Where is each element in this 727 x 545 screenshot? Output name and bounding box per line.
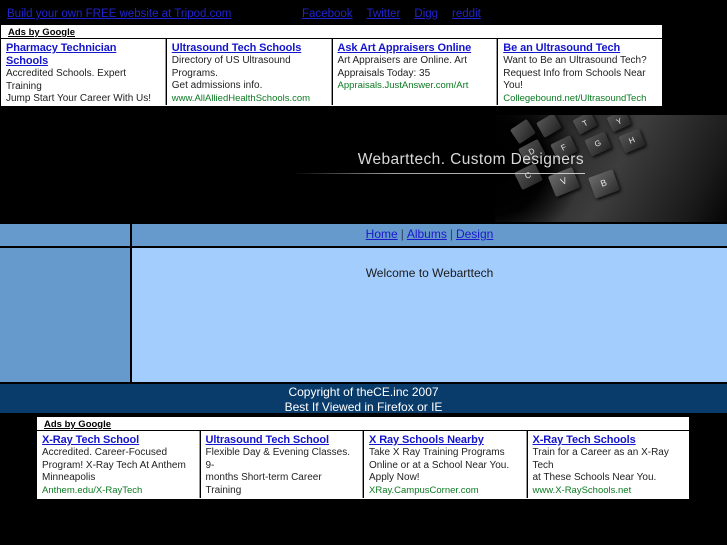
ad-item[interactable]: X-Ray Tech Schools Train for a Career as… bbox=[527, 431, 690, 498]
ad-description-line: Appraisals Today: 35 bbox=[338, 68, 493, 81]
ad-description-line: months Short-term Career Training bbox=[206, 472, 359, 497]
sidebar-panel bbox=[0, 248, 132, 382]
ads-top-row: Pharmacy Technician Schools Accredited S… bbox=[1, 39, 662, 105]
ad-display-url[interactable]: Appraisals.JustAnswer.com/Art bbox=[338, 80, 493, 93]
ad-description-line: Minneapolis bbox=[42, 472, 195, 485]
ad-title-link[interactable]: Ask Art Appraisers Online bbox=[338, 42, 493, 55]
ad-display-url[interactable]: goto.Everest.edu/Ultrasound bbox=[206, 497, 359, 498]
ad-item[interactable]: Ultrasound Tech Schools Directory of US … bbox=[166, 39, 332, 105]
ad-description-line: Want to Be an Ultrasound Tech? bbox=[503, 55, 658, 68]
nav-item-albums[interactable]: Albums bbox=[407, 227, 447, 241]
google-ads-top: Ads by Google Pharmacy Technician School… bbox=[0, 24, 663, 107]
nav-item-home[interactable]: Home bbox=[366, 227, 398, 241]
ad-description-line: Directory of US Ultrasound Programs. bbox=[172, 55, 327, 80]
site-header-banner: D F G H T Y C V B Webarttech. Custom Des… bbox=[0, 115, 727, 222]
keyboard-key-v: V bbox=[548, 167, 580, 197]
ad-title-link[interactable]: X-Ray Tech Schools bbox=[533, 434, 686, 447]
site-body: Home|Albums|Design Welcome to Webarttech… bbox=[0, 222, 727, 413]
welcome-message: Welcome to Webarttech bbox=[132, 266, 727, 280]
ad-title-link[interactable]: Pharmacy Technician Schools bbox=[6, 42, 161, 68]
site-footer: Copyright of theCE.inc 2007 Best If View… bbox=[0, 382, 727, 413]
ad-item[interactable]: X Ray Schools Nearby Take X Ray Training… bbox=[363, 431, 527, 498]
banner-divider bbox=[292, 173, 585, 174]
nav-separator: | bbox=[398, 227, 407, 241]
ad-item[interactable]: X-Ray Tech School Accredited. Career-Foc… bbox=[37, 431, 200, 498]
content-row: Welcome to Webarttech bbox=[0, 248, 727, 382]
ad-item[interactable]: Be an Ultrasound Tech Want to Be an Ultr… bbox=[497, 39, 662, 105]
tripod-build-link[interactable]: Build your own FREE website at Tripod.co… bbox=[7, 8, 231, 20]
ad-description-line: Program! X-Ray Tech At Anthem bbox=[42, 460, 195, 473]
ad-description-line: Online or at a School Near You. bbox=[369, 460, 522, 473]
ad-title-link[interactable]: Ultrasound Tech School bbox=[206, 434, 359, 447]
ad-title-link[interactable]: Be an Ultrasound Tech bbox=[503, 42, 658, 55]
ad-item[interactable]: Pharmacy Technician Schools Accredited S… bbox=[1, 39, 166, 105]
ad-description-line: Art Appraisers are Online. Art bbox=[338, 55, 493, 68]
banner-title: Webarttech. Custom Designers bbox=[352, 151, 584, 169]
ad-display-url[interactable]: Collegebound.net/UltrasoundTech bbox=[503, 93, 658, 106]
ad-item[interactable]: Ultrasound Tech School Flexible Day & Ev… bbox=[200, 431, 364, 498]
ad-description-line: Accredited. Career-Focused bbox=[42, 447, 195, 460]
ad-description-line: Request Info from Schools Near You! bbox=[503, 68, 658, 93]
nav-item-design[interactable]: Design bbox=[456, 227, 493, 241]
main-content-panel: Welcome to Webarttech bbox=[132, 248, 727, 382]
ad-description-line: Accredited Schools. Expert Training bbox=[6, 68, 161, 93]
footer-browser-note: Best If Viewed in Firefox or IE bbox=[0, 400, 727, 415]
social-links: FacebookTwitterDiggreddit bbox=[302, 8, 495, 20]
ads-bottom-row: X-Ray Tech School Accredited. Career-Foc… bbox=[37, 431, 689, 498]
keyboard-key-b: B bbox=[588, 169, 620, 199]
ad-description-line: Get admissions info. bbox=[172, 80, 327, 93]
navigation-bar: Home|Albums|Design bbox=[0, 222, 727, 248]
google-ads-bottom: Ads by Google X-Ray Tech School Accredit… bbox=[36, 416, 690, 500]
ads-by-google-label-bottom: Ads by Google bbox=[37, 417, 689, 431]
ad-description-line: Take X Ray Training Programs bbox=[369, 447, 522, 460]
social-link-reddit[interactable]: reddit bbox=[452, 8, 481, 20]
ad-display-url[interactable]: XRay.CampusCorner.com bbox=[369, 485, 522, 498]
nav-left-spacer bbox=[0, 224, 132, 246]
social-link-facebook[interactable]: Facebook bbox=[302, 8, 353, 20]
ad-title-link[interactable]: X Ray Schools Nearby bbox=[369, 434, 522, 447]
keyboard-key-y: Y bbox=[607, 115, 632, 132]
ad-description-line: Flexible Day & Evening Classes. 9- bbox=[206, 447, 359, 472]
keyboard-key bbox=[536, 115, 562, 138]
ad-display-url[interactable]: www.AllAlliedHealthSchools.com bbox=[172, 93, 327, 106]
ad-display-url[interactable]: www.X-RaySchools.net bbox=[533, 485, 686, 498]
ad-description-line: at These Schools Near You. bbox=[533, 472, 686, 485]
social-link-digg[interactable]: Digg bbox=[414, 8, 438, 20]
tripod-top-bar: Build your own FREE website at Tripod.co… bbox=[0, 0, 727, 24]
ad-display-url[interactable]: Anthem.edu/X-RayTech bbox=[42, 485, 195, 498]
ad-description-line: Train for a Career as an X-Ray Tech bbox=[533, 447, 686, 472]
footer-copyright: Copyright of theCE.inc 2007 bbox=[0, 385, 727, 400]
social-link-twitter[interactable]: Twitter bbox=[367, 8, 401, 20]
ad-description-line: Jump Start Your Career With Us! bbox=[6, 93, 161, 105]
ad-title-link[interactable]: Ultrasound Tech Schools bbox=[172, 42, 327, 55]
ads-by-google-label-top: Ads by Google bbox=[1, 25, 662, 39]
ad-item[interactable]: Ask Art Appraisers Online Art Appraisers… bbox=[332, 39, 498, 105]
keyboard-key-h: H bbox=[618, 129, 645, 154]
keyboard-key-t: T bbox=[572, 115, 597, 135]
nav-links: Home|Albums|Design bbox=[132, 224, 727, 246]
nav-separator: | bbox=[447, 227, 456, 241]
keyboard-key-g: G bbox=[584, 131, 611, 156]
ad-description-line: Apply Now! bbox=[369, 472, 522, 485]
ad-title-link[interactable]: X-Ray Tech School bbox=[42, 434, 195, 447]
